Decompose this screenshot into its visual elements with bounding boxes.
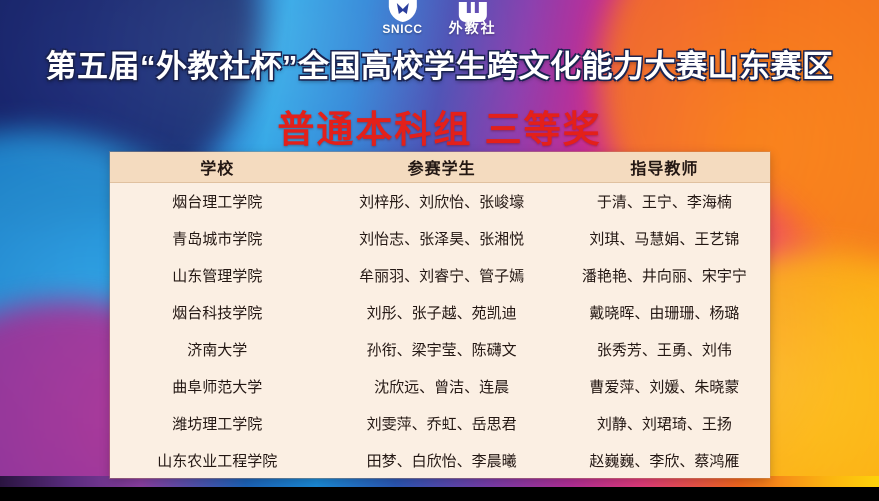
students-cell: 刘彤、张子越、苑凯迪 <box>325 294 559 331</box>
logo-waijiaoshe: 外教社 <box>449 0 497 37</box>
school-cell: 青岛城市学院 <box>110 220 325 257</box>
students-cell: 刘怡志、张泽昊、张湘悦 <box>325 220 559 257</box>
students-cell: 沈欣远、曾洁、连晨 <box>325 368 559 405</box>
students-cell: 田梦、白欣怡、李晨曦 <box>325 442 559 478</box>
teachers-cell: 刘琪、马慧娟、王艺锦 <box>559 220 770 257</box>
table-row: 潍坊理工学院刘雯萍、乔虹、岳思君刘静、刘珺琦、王扬 <box>110 405 770 442</box>
table-row: 烟台理工学院刘梓彤、刘欣怡、张峻壕于清、王宁、李海楠 <box>110 183 770 221</box>
logo-snicc: SNICC <box>382 0 422 35</box>
table-row: 山东农业工程学院田梦、白欣怡、李晨曦赵巍巍、李欣、蔡鸿雁 <box>110 442 770 478</box>
award-category-subtitle: 普通本科组 三等奖 <box>0 99 879 153</box>
slide-canvas: SNICC 外教社 第五届“外教社杯”全国高校学生跨文化能力大赛山东赛区 普通本… <box>0 0 879 501</box>
logo-row: SNICC 外教社 <box>382 0 496 37</box>
bottom-black-bar <box>0 487 879 501</box>
page-title: 第五届“外教社杯”全国高校学生跨文化能力大赛山东赛区 <box>0 41 879 86</box>
students-cell: 牟丽羽、刘睿宁、管子嫣 <box>325 257 559 294</box>
column-header-students: 参赛学生 <box>325 152 559 183</box>
teachers-cell: 于清、王宁、李海楠 <box>559 183 770 221</box>
award-table-head: 学校 参赛学生 指导教师 <box>110 152 770 183</box>
award-table-body: 烟台理工学院刘梓彤、刘欣怡、张峻壕于清、王宁、李海楠青岛城市学院刘怡志、张泽昊、… <box>110 183 770 479</box>
w-mark-icon <box>456 0 490 22</box>
school-cell: 烟台科技学院 <box>110 294 325 331</box>
school-cell: 山东农业工程学院 <box>110 442 325 478</box>
teachers-cell: 曹爱萍、刘媛、朱晓蒙 <box>559 368 770 405</box>
teachers-cell: 戴晓晖、由珊珊、杨璐 <box>559 294 770 331</box>
students-cell: 孙衔、梁宇莹、陈礴文 <box>325 331 559 368</box>
teachers-cell: 潘艳艳、井向丽、宋宇宁 <box>559 257 770 294</box>
students-cell: 刘雯萍、乔虹、岳思君 <box>325 405 559 442</box>
school-cell: 曲阜师范大学 <box>110 368 325 405</box>
students-cell: 刘梓彤、刘欣怡、张峻壕 <box>325 183 559 221</box>
column-header-school: 学校 <box>110 152 325 183</box>
award-table-card: 学校 参赛学生 指导教师 烟台理工学院刘梓彤、刘欣怡、张峻壕于清、王宁、李海楠青… <box>110 152 770 478</box>
logo-waijiaoshe-label: 外教社 <box>449 23 497 37</box>
table-row: 烟台科技学院刘彤、张子越、苑凯迪戴晓晖、由珊珊、杨璐 <box>110 294 770 331</box>
teachers-cell: 刘静、刘珺琦、王扬 <box>559 405 770 442</box>
school-cell: 烟台理工学院 <box>110 183 325 221</box>
school-cell: 山东管理学院 <box>110 257 325 294</box>
teachers-cell: 张秀芳、王勇、刘伟 <box>559 331 770 368</box>
table-row: 济南大学孙衔、梁宇莹、陈礴文张秀芳、王勇、刘伟 <box>110 331 770 368</box>
award-table: 学校 参赛学生 指导教师 烟台理工学院刘梓彤、刘欣怡、张峻壕于清、王宁、李海楠青… <box>110 152 770 478</box>
school-cell: 潍坊理工学院 <box>110 405 325 442</box>
table-row: 山东管理学院牟丽羽、刘睿宁、管子嫣潘艳艳、井向丽、宋宇宁 <box>110 257 770 294</box>
table-row: 青岛城市学院刘怡志、张泽昊、张湘悦刘琪、马慧娟、王艺锦 <box>110 220 770 257</box>
table-row: 曲阜师范大学沈欣远、曾洁、连晨曹爱萍、刘媛、朱晓蒙 <box>110 368 770 405</box>
teachers-cell: 赵巍巍、李欣、蔡鸿雁 <box>559 442 770 478</box>
column-header-teachers: 指导教师 <box>559 152 770 183</box>
table-header-row: 学校 参赛学生 指导教师 <box>110 152 770 183</box>
school-cell: 济南大学 <box>110 331 325 368</box>
shield-mark-icon <box>386 0 420 22</box>
logo-snicc-label: SNICC <box>382 23 422 35</box>
